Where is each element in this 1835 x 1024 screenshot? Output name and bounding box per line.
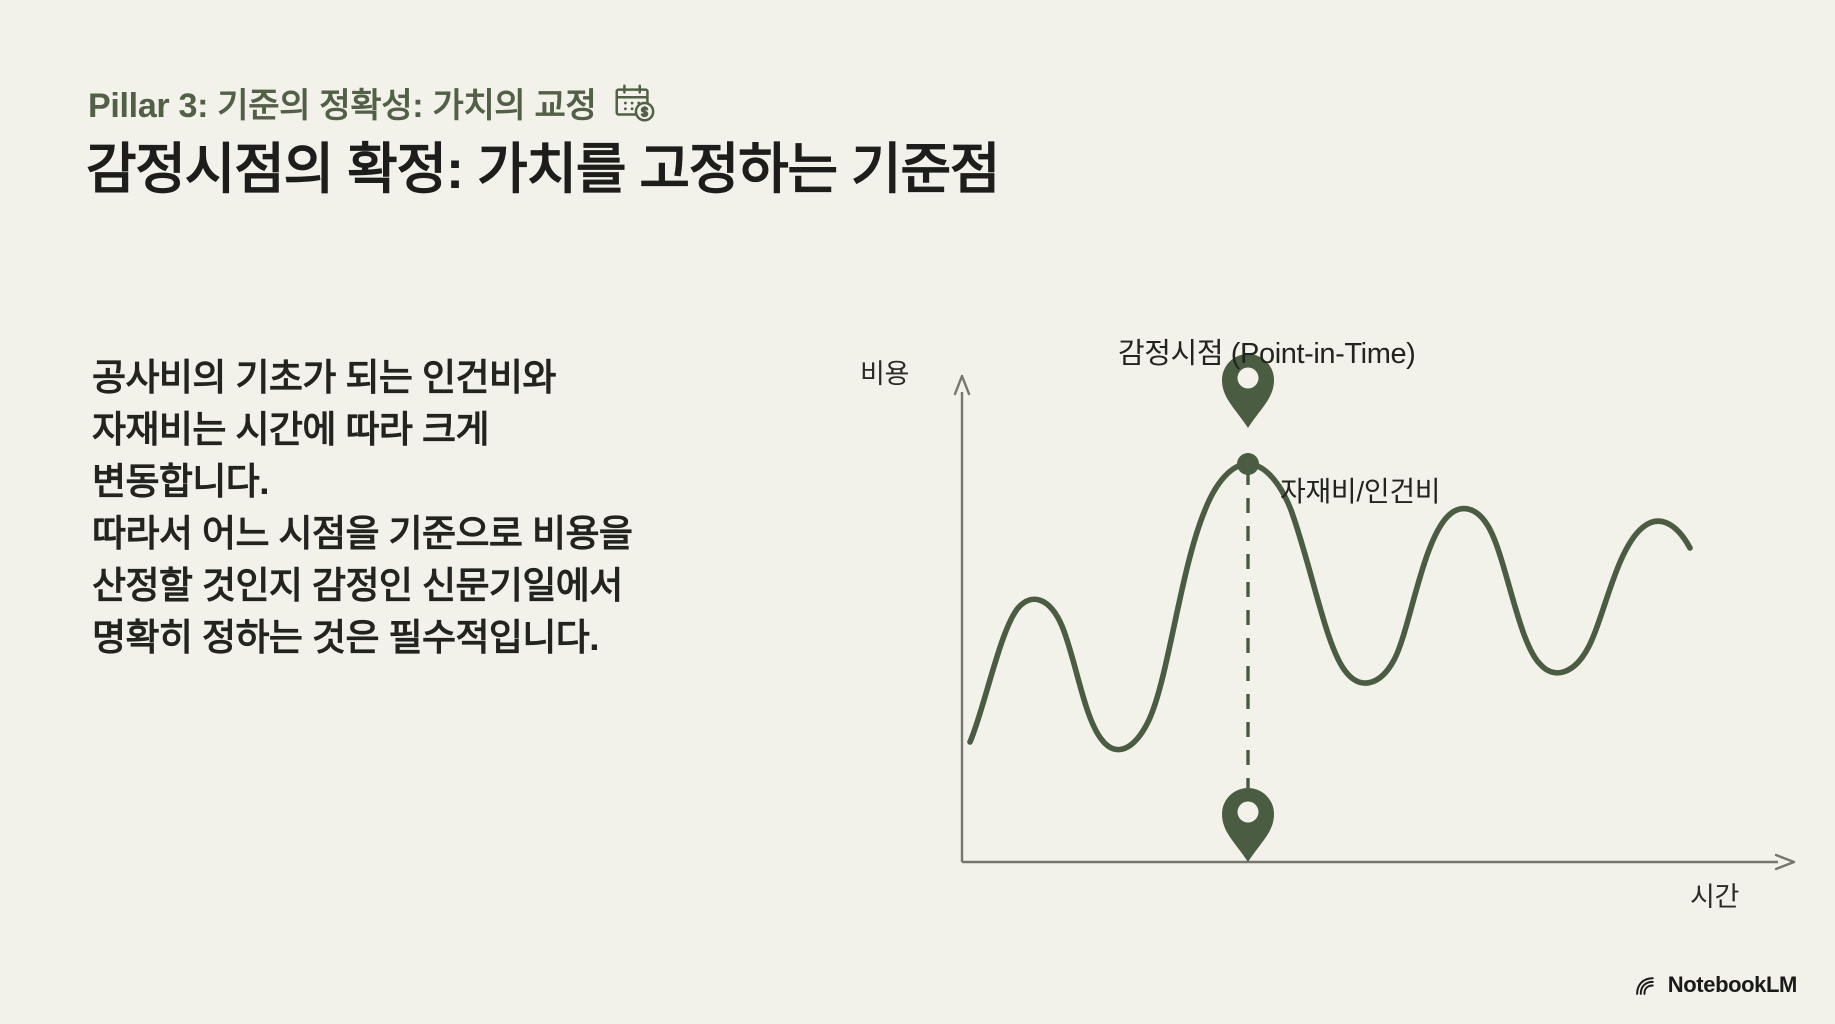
body-copy: 공사비의 기초가 되는 인건비와 자재비는 시간에 따라 크게 변동합니다. 따… [92, 352, 792, 664]
series-label: 자재비/인건비 [1280, 470, 1440, 510]
footer-brand-text: NotebookLM [1668, 972, 1797, 998]
notebooklm-spiral-icon [1634, 973, 1659, 998]
x-axis-label: 시간 [1690, 875, 1739, 914]
x-axis [962, 855, 1794, 869]
body-line: 명확히 정하는 것은 필수적입니다. [92, 612, 792, 664]
body-line: 공사비의 기초가 되는 인건비와 [92, 352, 792, 404]
body-line: 따라서 어느 시점을 기준으로 비용을 [92, 508, 792, 560]
footer-brand: NotebookLM [1634, 972, 1797, 998]
body-line: 산정할 것인지 감정인 신문기일에서 [92, 560, 792, 612]
calendar-dollar-icon [611, 80, 657, 126]
slide-root: Pillar 3: 기준의 정확성: 가치의 교정 감정시점의 확정: 가치를 … [0, 0, 1835, 1024]
body-line: 자재비는 시간에 따라 크게 [92, 404, 792, 456]
chart-svg [860, 330, 1800, 930]
y-axis-label: 비용 [860, 352, 909, 391]
point-in-time-label: 감정시점 (Point-in-Time) [1118, 330, 1415, 372]
point-in-time-dot [1237, 453, 1259, 475]
cost-over-time-chart: 비용 시간 자재비/인건비 감정시점 (Point-in-Time) [860, 330, 1800, 930]
page-title: 감정시점의 확정: 가치를 고정하는 기준점 [86, 124, 999, 204]
eyebrow-text: Pillar 3: 기준의 정확성: 가치의 교정 [88, 78, 597, 127]
eyebrow-row: Pillar 3: 기준의 정확성: 가치의 교정 [88, 78, 657, 127]
y-axis [955, 376, 969, 862]
body-line: 변동합니다. [92, 456, 792, 508]
point-in-time-pin-lower [1222, 788, 1274, 862]
